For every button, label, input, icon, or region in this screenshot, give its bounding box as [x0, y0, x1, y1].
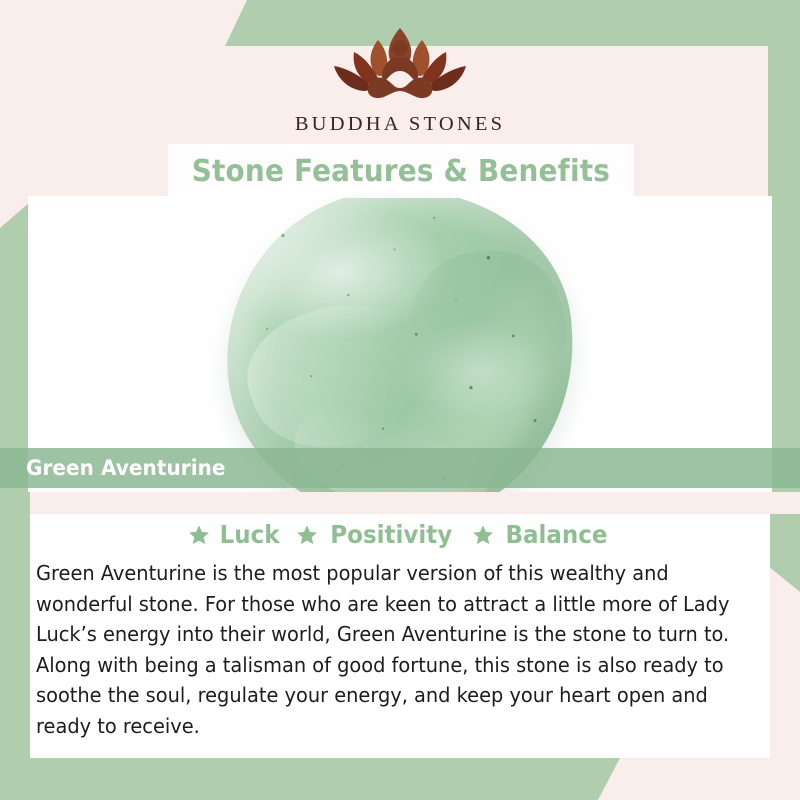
- frame-border-left: [0, 202, 30, 800]
- benefit-item-positivity: Positivity: [296, 520, 458, 549]
- panel-tint-strip: [30, 492, 800, 514]
- frame-border-bottom: [0, 758, 620, 800]
- brand-header: BUDDHA STONES: [0, 0, 800, 146]
- star-icon: [472, 524, 494, 546]
- brand-name: BUDDHA STONES: [295, 113, 505, 136]
- poster-card: BUDDHA STONES Stone Features & Benefits …: [0, 0, 800, 800]
- benefit-item-luck: Luck: [188, 520, 282, 549]
- page-title: Stone Features & Benefits: [192, 154, 610, 189]
- benefits-row: Luck Positivity Balance: [30, 520, 770, 549]
- description-text: Green Aventurine is the most popular ver…: [36, 558, 735, 741]
- star-icon: [188, 524, 210, 546]
- section-title-banner: Stone Features & Benefits: [168, 144, 634, 198]
- stone-name-bar: Green Aventurine: [0, 448, 800, 488]
- benefit-label: Balance: [505, 520, 607, 549]
- lotus-meditation-icon: [318, 22, 482, 110]
- benefit-label: Luck: [220, 520, 280, 549]
- star-icon: [296, 524, 318, 546]
- stone-name-label: Green Aventurine: [26, 456, 226, 480]
- benefit-item-balance: Balance: [472, 520, 612, 549]
- benefit-label: Positivity: [331, 520, 453, 549]
